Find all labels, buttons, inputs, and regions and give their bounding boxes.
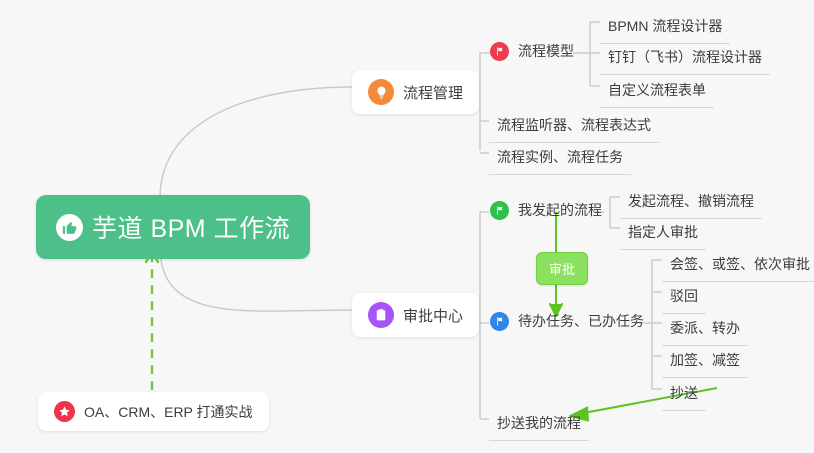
flag-icon bbox=[490, 201, 509, 220]
leaf-cc[interactable]: 抄送 bbox=[662, 377, 706, 411]
leaf-countersign[interactable]: 会签、或签、依次审批 bbox=[662, 248, 814, 282]
node-todo-done-label: 待办任务、已办任务 bbox=[518, 311, 644, 331]
leaf-custom-form-label: 自定义流程表单 bbox=[608, 80, 706, 100]
leaf-countersign-label: 会签、或签、依次审批 bbox=[670, 254, 810, 274]
node-todo-done[interactable]: 待办任务、已办任务 bbox=[490, 311, 644, 331]
root-label: 芋道 BPM 工作流 bbox=[92, 209, 290, 245]
branch-process-management[interactable]: 流程管理 bbox=[352, 70, 479, 114]
thumbs-up-icon bbox=[56, 214, 83, 241]
approval-pill: 审批 bbox=[536, 252, 588, 285]
leaf-start-cancel-process[interactable]: 发起流程、撤销流程 bbox=[620, 185, 762, 219]
leaf-cc-to-me[interactable]: 抄送我的流程 bbox=[489, 407, 589, 441]
leaf-assignee-approval[interactable]: 指定人审批 bbox=[620, 216, 706, 250]
node-my-started-label: 我发起的流程 bbox=[518, 200, 602, 220]
approval-pill-label: 审批 bbox=[549, 262, 575, 277]
branch-approval-center[interactable]: 审批中心 bbox=[352, 293, 479, 337]
node-my-started[interactable]: 我发起的流程 bbox=[490, 200, 602, 220]
leaf-add-remove-sign[interactable]: 加签、减签 bbox=[662, 344, 748, 378]
node-process-model[interactable]: 流程模型 bbox=[490, 41, 574, 61]
link-root-to-process-management bbox=[160, 87, 352, 198]
leaf-instance-task[interactable]: 流程实例、流程任务 bbox=[489, 141, 631, 175]
leaf-instance-task-label: 流程实例、流程任务 bbox=[497, 147, 623, 167]
branch-process-management-label: 流程管理 bbox=[403, 82, 463, 103]
leaf-delegate-transfer[interactable]: 委派、转办 bbox=[662, 312, 748, 346]
clipboard-icon bbox=[368, 302, 394, 328]
bottom-note-label: OA、CRM、ERP 打通实战 bbox=[84, 402, 253, 422]
leaf-cc-label: 抄送 bbox=[670, 383, 698, 403]
leaf-listener-expression-label: 流程监听器、流程表达式 bbox=[497, 115, 651, 135]
node-process-model-label: 流程模型 bbox=[518, 41, 574, 61]
branch-approval-center-label: 审批中心 bbox=[403, 305, 463, 326]
leaf-dingtalk-designer-label: 钉钉（飞书）流程设计器 bbox=[608, 47, 762, 67]
leaf-reject-label: 驳回 bbox=[670, 286, 698, 306]
mindmap-canvas: 芋道 BPM 工作流 OA、CRM、ERP 打通实战 流程管理 流程模型 BPM… bbox=[0, 0, 814, 453]
leaf-bpmn-designer[interactable]: BPMN 流程设计器 bbox=[600, 10, 730, 44]
leaf-cc-to-me-label: 抄送我的流程 bbox=[497, 413, 581, 433]
leaf-delegate-transfer-label: 委派、转办 bbox=[670, 318, 740, 338]
leaf-reject[interactable]: 驳回 bbox=[662, 280, 706, 314]
flag-icon bbox=[490, 42, 509, 61]
leaf-dingtalk-designer[interactable]: 钉钉（飞书）流程设计器 bbox=[600, 41, 770, 75]
star-icon bbox=[54, 401, 75, 422]
lightbulb-icon bbox=[368, 79, 394, 105]
root-node[interactable]: 芋道 BPM 工作流 bbox=[36, 195, 310, 259]
leaf-add-remove-sign-label: 加签、减签 bbox=[670, 350, 740, 370]
leaf-listener-expression[interactable]: 流程监听器、流程表达式 bbox=[489, 109, 659, 143]
leaf-custom-form[interactable]: 自定义流程表单 bbox=[600, 74, 714, 108]
flag-icon bbox=[490, 312, 509, 331]
leaf-start-cancel-process-label: 发起流程、撤销流程 bbox=[628, 191, 754, 211]
bottom-note-node[interactable]: OA、CRM、ERP 打通实战 bbox=[38, 392, 269, 431]
leaf-assignee-approval-label: 指定人审批 bbox=[628, 222, 698, 242]
leaf-bpmn-designer-label: BPMN 流程设计器 bbox=[608, 16, 722, 36]
